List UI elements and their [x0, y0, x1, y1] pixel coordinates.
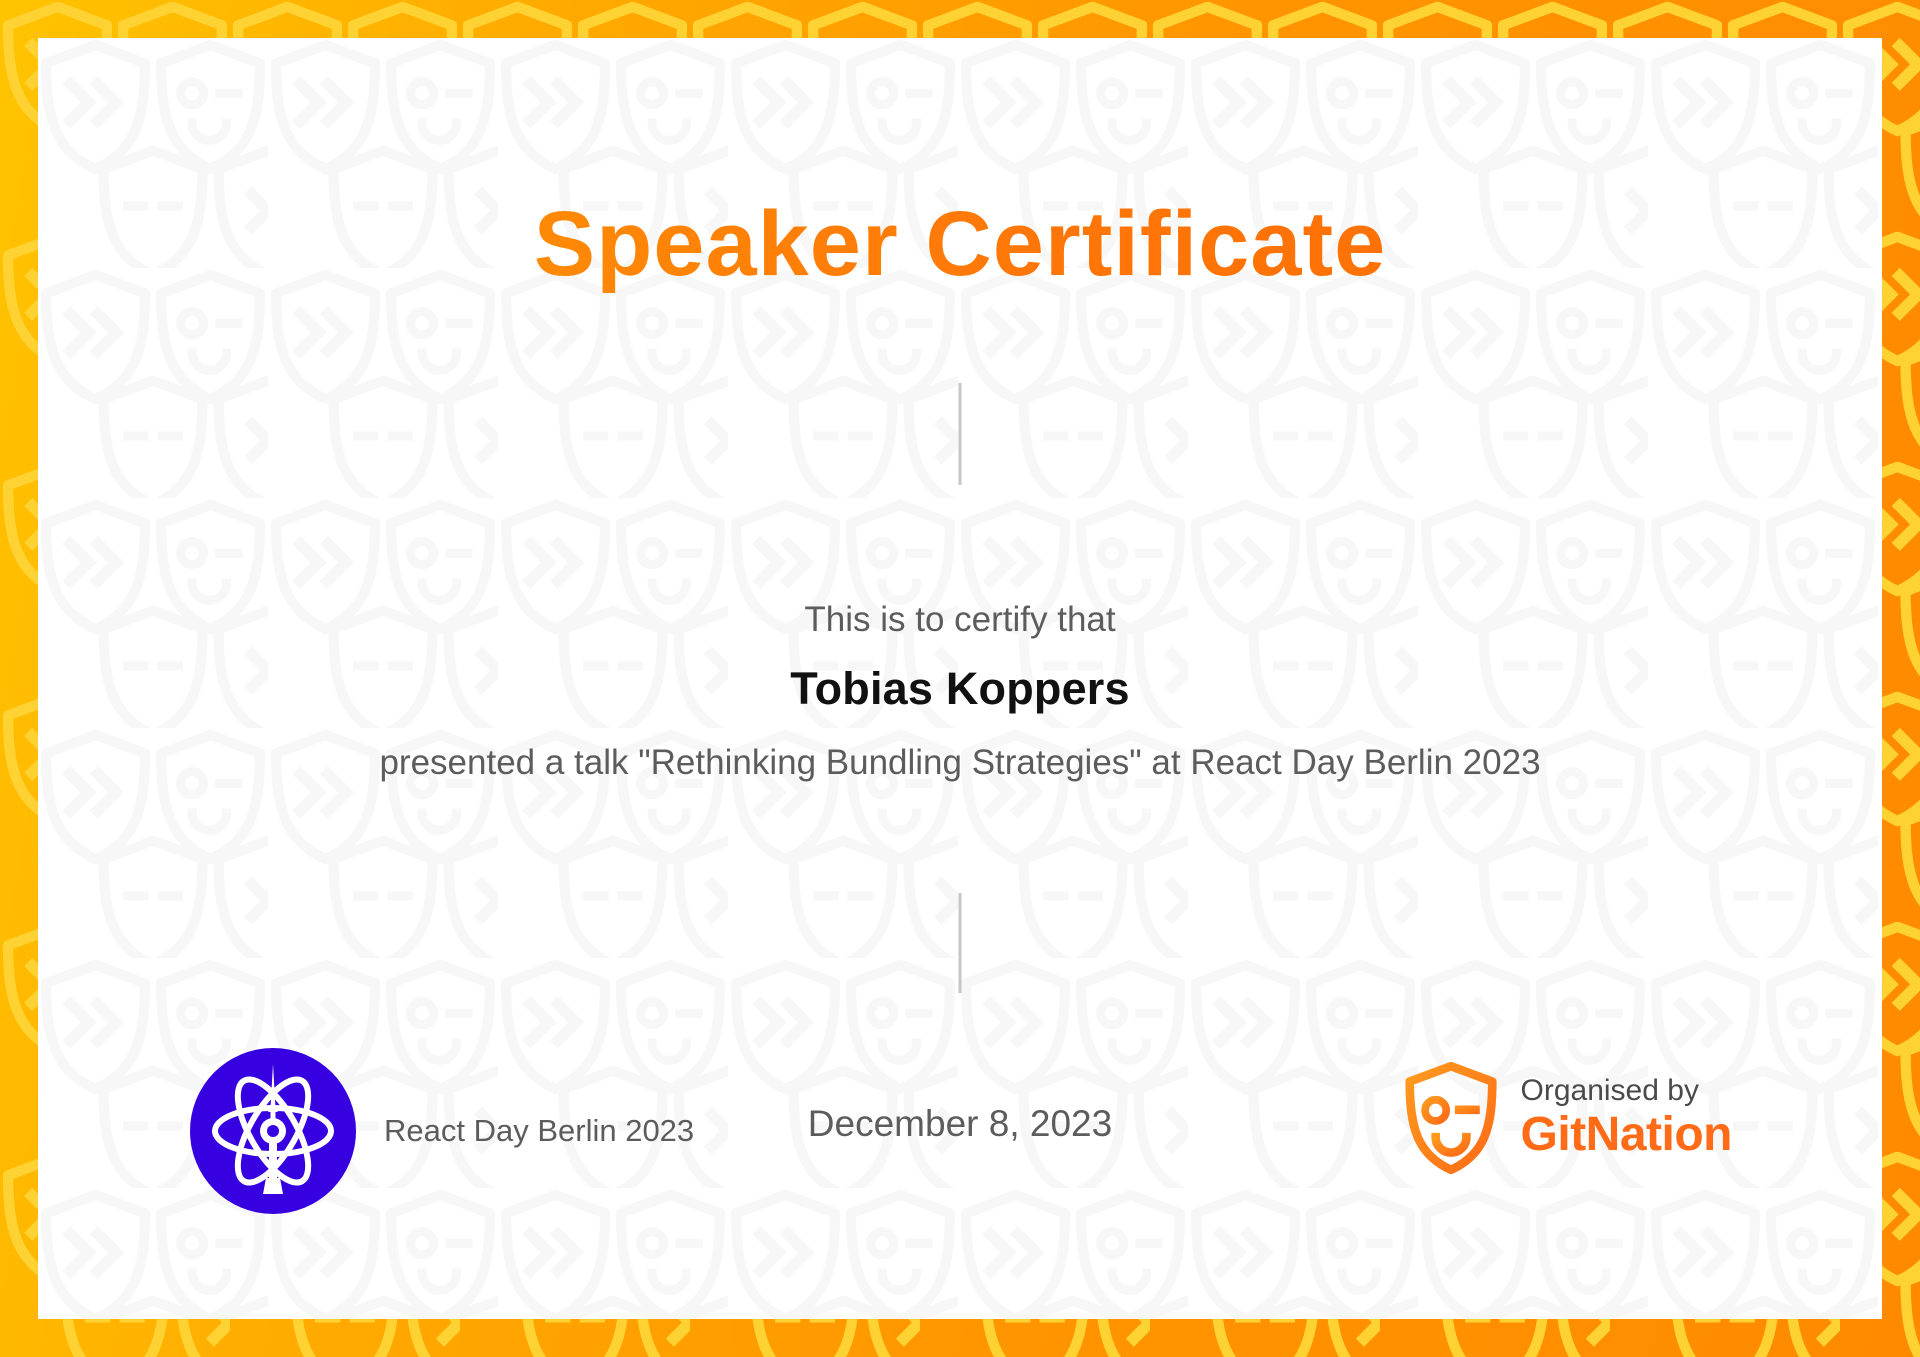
- page-title: Speaker Certificate: [38, 196, 1882, 293]
- organiser-block: Organised by GitNation: [1403, 1060, 1732, 1176]
- organiser-text: Organised by GitNation: [1521, 1074, 1732, 1162]
- organised-by-label: Organised by: [1521, 1074, 1732, 1107]
- talk-description: presented a talk "Rethinking Bundling St…: [38, 743, 1882, 783]
- certificate-root: Speaker Certificate This is to certify t…: [0, 0, 1920, 1357]
- certify-line: This is to certify that: [38, 600, 1882, 640]
- divider-bottom: [959, 893, 962, 993]
- divider-top: [959, 383, 962, 485]
- gitnation-wordmark: GitNation: [1521, 1109, 1732, 1162]
- recipient-name: Tobias Koppers: [38, 663, 1882, 715]
- certificate-card: Speaker Certificate This is to certify t…: [38, 38, 1882, 1319]
- certificate-content: Speaker Certificate This is to certify t…: [38, 38, 1882, 1319]
- certificate-footer: React Day Berlin 2023 December 8, 2023: [38, 1038, 1882, 1238]
- gitnation-shield-icon: [1403, 1060, 1499, 1176]
